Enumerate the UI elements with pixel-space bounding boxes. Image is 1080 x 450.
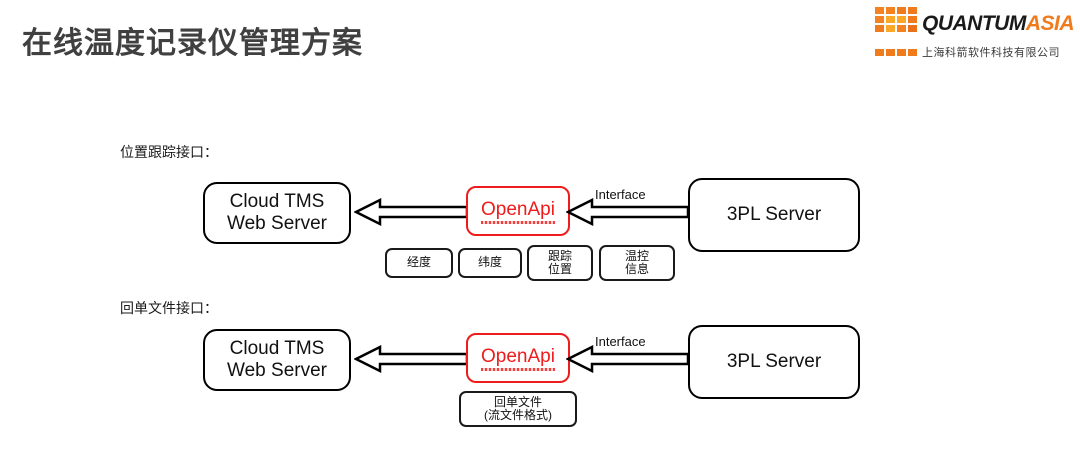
interface-label-1: Interface: [595, 187, 646, 202]
node-label-line1: Cloud TMS: [227, 191, 327, 213]
node-openapi-1[interactable]: OpenApi: [466, 186, 570, 236]
arrow-openapi-to-tms-1: [354, 198, 469, 226]
chip-temperature-info[interactable]: 温控 信息: [599, 245, 675, 281]
logo-wordmark: QUANTUMASIA: [922, 13, 1074, 34]
node-cloud-tms-web-server-2[interactable]: Cloud TMS Web Server: [203, 329, 351, 391]
chip-label: 回单文件 (流文件格式): [484, 396, 552, 423]
node-label: 3PL Server: [727, 351, 821, 373]
arrow-3pl-to-openapi-1: [566, 198, 690, 226]
node-label: Cloud TMS Web Server: [227, 338, 327, 383]
node-label-line2: Web Server: [227, 213, 327, 235]
chip-receipt-file[interactable]: 回单文件 (流文件格式): [459, 391, 577, 427]
logo-grid-bottom-icon: [875, 49, 917, 56]
node-label: 3PL Server: [727, 204, 821, 226]
chip-label-line2: 位置: [548, 263, 572, 276]
chip-label-line1: 跟踪: [548, 250, 572, 263]
page-title: 在线温度记录仪管理方案: [22, 18, 363, 62]
node-label: OpenApi: [481, 346, 555, 370]
node-label-line2: Web Server: [227, 360, 327, 382]
section-label-location-tracking: 位置跟踪接口：: [120, 142, 218, 162]
chip-latitude[interactable]: 纬度: [458, 248, 522, 278]
node-label: Cloud TMS Web Server: [227, 191, 327, 236]
logo-wordmark-accent: ASIA: [1026, 12, 1074, 35]
chip-label: 温控 信息: [625, 250, 649, 277]
node-3pl-server-2[interactable]: 3PL Server: [688, 325, 860, 399]
node-cloud-tms-web-server-1[interactable]: Cloud TMS Web Server: [203, 182, 351, 244]
chip-label: 经度: [407, 256, 431, 269]
node-3pl-server-1[interactable]: 3PL Server: [688, 178, 860, 252]
logo-subtitle-row: 上海科箭软件科技有限公司: [875, 44, 1060, 60]
interface-label-2: Interface: [595, 334, 646, 349]
chip-longitude[interactable]: 经度: [385, 248, 453, 278]
chip-label-line2: (流文件格式): [484, 409, 552, 422]
slide-canvas: 在线温度记录仪管理方案 QUANTUMASIA 上海科箭软件科技有限公司 位置跟…: [0, 0, 1080, 450]
logo-subtitle: 上海科箭软件科技有限公司: [922, 44, 1060, 60]
chip-label: 纬度: [478, 256, 502, 269]
chip-label-line1: 回单文件: [484, 396, 552, 409]
logo-wordmark-row: QUANTUMASIA: [875, 6, 1074, 41]
arrow-openapi-to-tms-2: [354, 345, 469, 373]
company-logo: QUANTUMASIA 上海科箭软件科技有限公司: [875, 6, 1070, 60]
chip-tracking-position[interactable]: 跟踪 位置: [527, 245, 593, 281]
chip-label: 跟踪 位置: [548, 250, 572, 277]
node-label-line1: Cloud TMS: [227, 338, 327, 360]
arrow-3pl-to-openapi-2: [566, 345, 690, 373]
node-label: OpenApi: [481, 199, 555, 223]
chip-label-line1: 经度: [407, 256, 431, 269]
chip-label-line2: 信息: [625, 263, 649, 276]
node-openapi-2[interactable]: OpenApi: [466, 333, 570, 383]
chip-label-line1: 纬度: [478, 256, 502, 269]
logo-grid-icon: [875, 7, 917, 41]
logo-wordmark-dark: QUANTUM: [922, 12, 1026, 35]
section-label-receipt-file: 回单文件接口：: [120, 298, 218, 318]
chip-label-line1: 温控: [625, 250, 649, 263]
